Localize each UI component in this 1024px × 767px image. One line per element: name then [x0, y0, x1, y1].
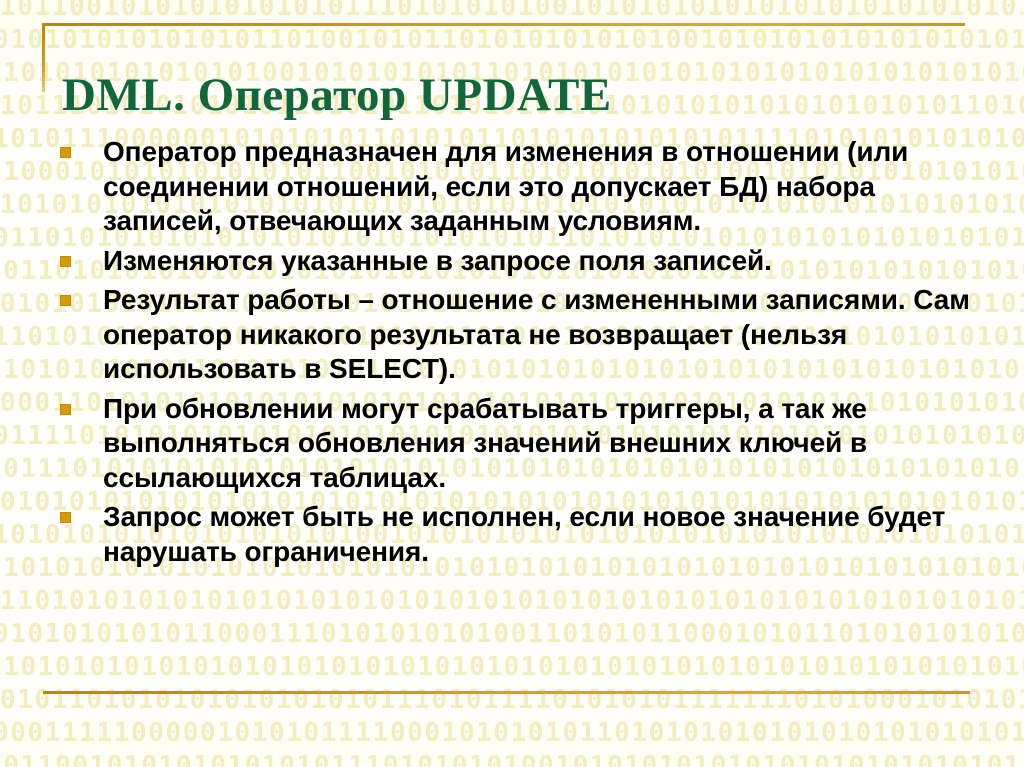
bullet-text: Оператор предназначен для изменения в от…	[103, 135, 988, 239]
bullet-item: При обновлении могут срабатывать триггер…	[58, 392, 988, 496]
top-gold-rule	[42, 23, 965, 26]
left-gold-rule	[42, 23, 45, 92]
bullet-item: Оператор предназначен для изменения в от…	[58, 135, 988, 239]
presentation-slide: 1011001010101010101011101010101001010101…	[0, 0, 1024, 767]
slide-title: DML. Оператор UPDATE	[62, 67, 612, 123]
square-bullet-icon	[60, 295, 71, 306]
binary-pattern-row: 0101010101011000111010101010100110101011…	[0, 621, 1024, 647]
bullet-text: При обновлении могут срабатывать триггер…	[103, 392, 988, 496]
square-bullet-icon	[60, 512, 71, 523]
binary-pattern-row: 1101010101010101010101010101010101010101…	[0, 654, 1024, 680]
square-bullet-icon	[60, 147, 71, 158]
slide-bullet-list: Оператор предназначен для изменения в от…	[58, 135, 988, 574]
square-bullet-icon	[60, 404, 71, 415]
bullet-text: Запрос может быть не исполнен, если ново…	[103, 500, 988, 569]
binary-pattern-row: 1011001010101010101011101010101001010101…	[0, 753, 1024, 767]
binary-pattern-row: 1011001010101010101011101010101001010101…	[0, 0, 1024, 20]
bullet-item: Запрос может быть не исполнен, если ново…	[58, 500, 988, 569]
bullet-item: Результат работы – отношение с измененны…	[58, 283, 988, 387]
bottom-gold-rule	[43, 691, 970, 694]
bullet-text: Изменяются указанные в запросе поля запи…	[103, 244, 988, 279]
binary-pattern-row: 1101010101010101010101010101010101010101…	[0, 588, 1024, 614]
binary-pattern-row: 0101010101010101101001010110101010101010…	[0, 27, 1024, 53]
bullet-text: Результат работы – отношение с измененны…	[103, 283, 988, 387]
bullet-item: Изменяются указанные в запросе поля запи…	[58, 244, 988, 279]
square-bullet-icon	[60, 256, 71, 267]
binary-pattern-row: 0001111100000101010111100010101010110101…	[0, 720, 1024, 746]
